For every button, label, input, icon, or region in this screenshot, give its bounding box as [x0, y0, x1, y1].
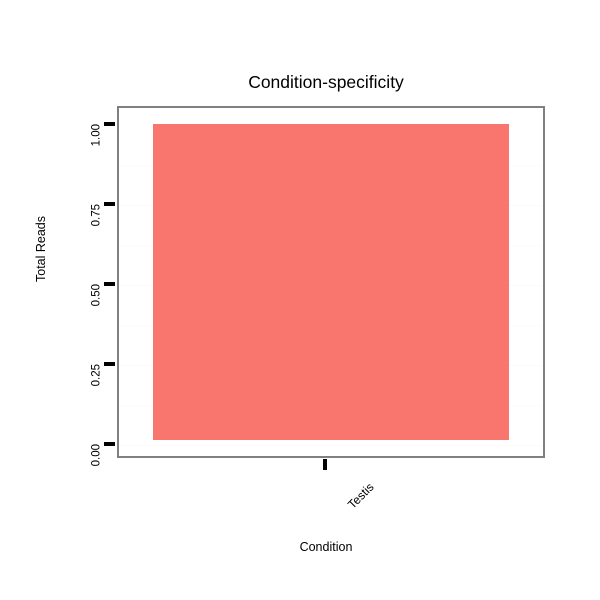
y-tick-label-3: 0.75: [90, 204, 102, 226]
bar-chart-figure: Condition-specificity 0.00 0.25 0.50 0.7…: [0, 0, 600, 600]
bar-testis[interactable]: [153, 124, 509, 441]
x-tick-label-testis: Testis: [345, 480, 377, 512]
plot-panel: [117, 106, 545, 458]
y-tick-mark: [104, 282, 115, 286]
y-axis-title: Total Reads: [34, 216, 48, 282]
y-tick-label-4: 1.00: [90, 124, 102, 146]
y-tick-mark: [104, 442, 115, 446]
x-axis-title: Condition: [0, 540, 600, 555]
y-tick-label-0: 0.00: [90, 444, 102, 466]
x-tick-mark: [323, 459, 327, 470]
chart-title: Condition-specificity: [0, 72, 600, 92]
bars-layer: [119, 108, 543, 456]
y-tick-mark: [104, 202, 115, 206]
y-tick-mark: [104, 362, 115, 366]
y-tick-label-2: 0.50: [90, 284, 102, 306]
y-tick-label-1: 0.25: [90, 364, 102, 386]
y-tick-mark: [104, 122, 115, 126]
